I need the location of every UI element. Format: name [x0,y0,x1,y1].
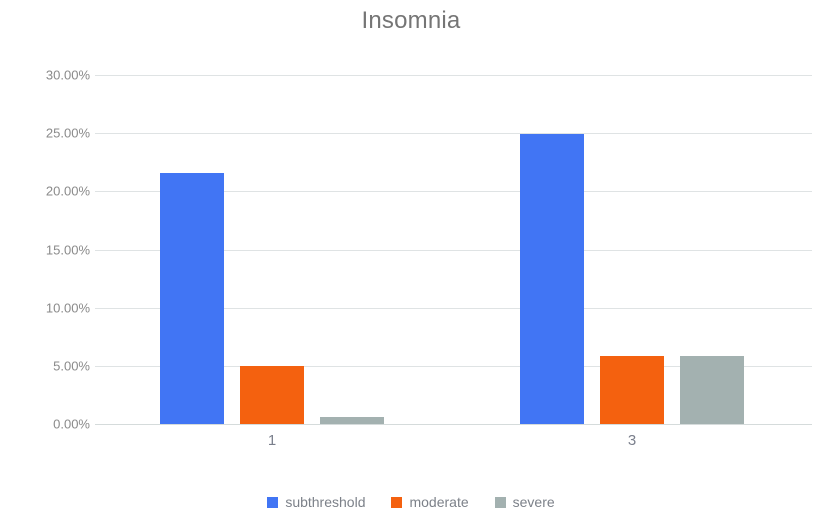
bar-subthreshold-3[interactable] [520,134,584,424]
legend-swatch-icon [391,497,402,508]
x-axis-tick-label: 3 [628,432,636,449]
legend-label: severe [513,494,555,510]
x-axis: 13 [95,432,812,462]
y-axis-tick-label: 0.00% [12,417,90,432]
y-axis-tick-label: 15.00% [12,242,90,257]
gridline [95,424,812,425]
bar-moderate-1[interactable] [240,366,304,424]
gridline [95,133,812,134]
legend-swatch-icon [495,497,506,508]
x-axis-tick-label: 1 [268,432,276,449]
y-axis-tick-label: 20.00% [12,184,90,199]
legend-item-severe[interactable]: severe [495,494,555,510]
plot-area [95,75,812,424]
legend-item-moderate[interactable]: moderate [391,494,468,510]
y-axis-tick-label: 25.00% [12,126,90,141]
chart-title: Insomnia [0,7,822,35]
legend-label: subthreshold [285,494,365,510]
bar-subthreshold-1[interactable] [160,173,224,424]
legend-item-subthreshold[interactable]: subthreshold [267,494,365,510]
gridline [95,75,812,76]
chart-legend: subthresholdmoderatesevere [0,494,822,510]
y-axis-tick-label: 30.00% [12,68,90,83]
legend-label: moderate [409,494,468,510]
y-axis-tick-label: 5.00% [12,358,90,373]
bar-severe-1[interactable] [320,417,384,424]
chart-container: Insomnia 30.00%25.00%20.00%15.00%10.00%5… [0,0,822,523]
legend-swatch-icon [267,497,278,508]
bar-moderate-3[interactable] [600,356,664,424]
y-axis: 30.00%25.00%20.00%15.00%10.00%5.00%0.00% [0,75,90,424]
y-axis-tick-label: 10.00% [12,300,90,315]
bar-severe-3[interactable] [680,356,744,424]
